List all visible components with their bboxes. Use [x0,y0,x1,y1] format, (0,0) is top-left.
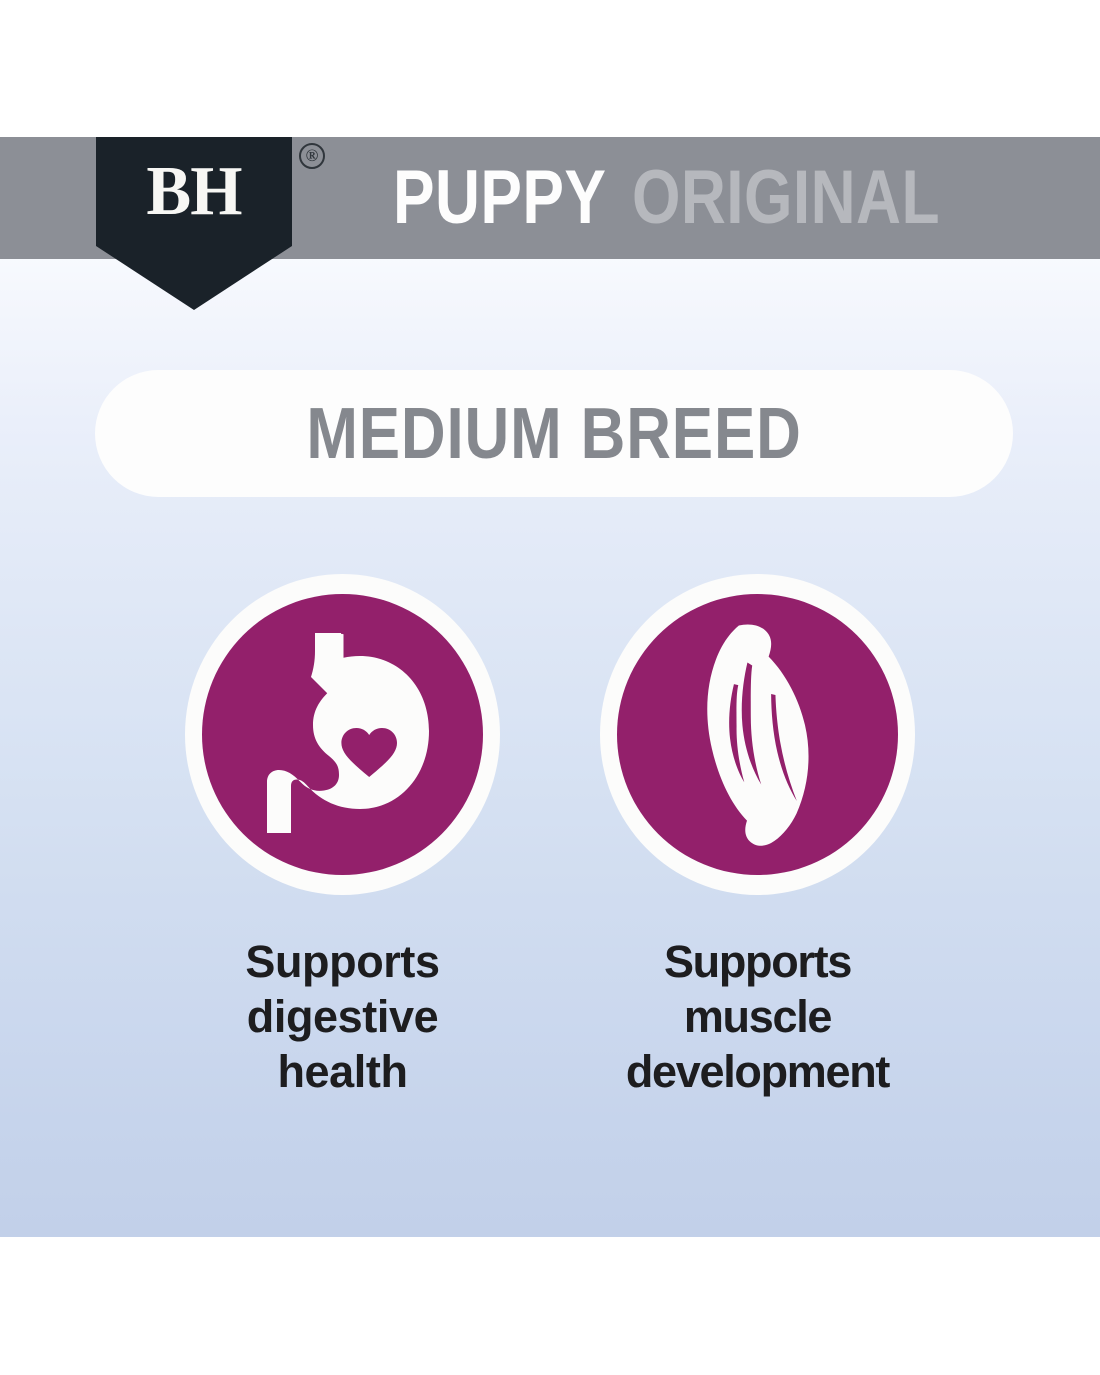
brand-initials: BH [100,137,288,247]
feature-item-digestive-health: Supports digestive health [185,574,500,1100]
feature-caption: Supports muscle development [600,935,915,1100]
product-name-secondary: ORIGINAL [632,165,940,230]
feature-list: Supports digestive health [0,574,1100,1100]
icon-ring [600,574,915,895]
stomach-digestive-icon [202,594,483,875]
product-name-primary: PUPPY [393,165,606,230]
feature-caption: Supports digestive health [185,935,500,1100]
breed-size-label: MEDIUM BREED [306,393,801,475]
breed-size-badge: MEDIUM BREED [95,370,1013,497]
product-feature-panel: PUPPY ORIGINAL BH ® MEDIUM BREED [0,0,1100,1375]
icon-ring [185,574,500,895]
product-name-heading: PUPPY ORIGINAL [393,137,1008,259]
feature-item-muscle-development: Supports muscle development [600,574,915,1100]
muscle-fiber-icon [617,594,898,875]
registered-trademark-icon: ® [299,143,325,169]
